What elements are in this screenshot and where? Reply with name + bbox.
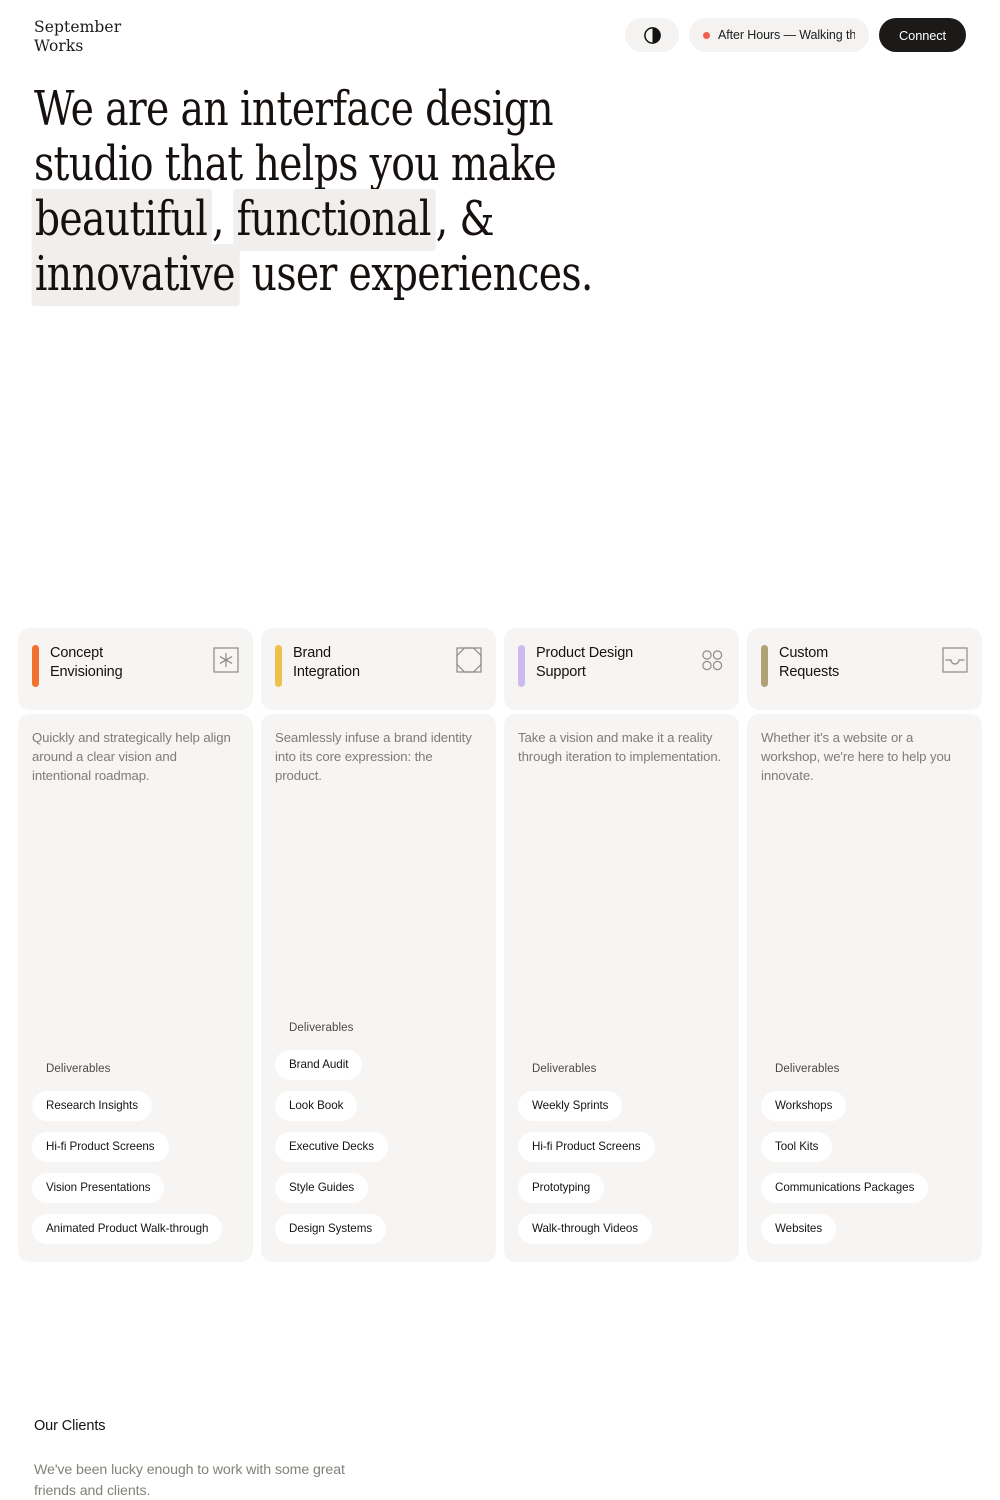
hero-comma-2: , & (436, 191, 494, 247)
card-body: Take a vision and make it a reality thro… (504, 714, 739, 1262)
card-title: Brand Integration (293, 644, 360, 682)
deliverables-label: Deliverables (532, 1063, 725, 1075)
card-body: Seamlessly infuse a brand identity into … (261, 714, 496, 1262)
hero-line-1: We are an interface design (34, 82, 559, 137)
card-description: Seamlessly infuse a brand identity into … (275, 728, 482, 785)
card-header: Brand Integration (261, 628, 496, 710)
deliverables-block: Deliverables Research Insights Hi-fi Pro… (32, 1063, 239, 1244)
deliverables-label: Deliverables (289, 1022, 482, 1034)
hero-line-4: innovative user experiences. (34, 247, 559, 302)
service-card-concept-envisioning[interactable]: Concept Envisioning Quickly and strategi… (18, 628, 253, 1262)
card-body: Whether it's a website or a workshop, we… (747, 714, 982, 1262)
hero-highlight-innovative: innovative (32, 244, 240, 306)
deliverable-chip[interactable]: Style Guides (275, 1173, 368, 1203)
hero-tail: user experiences. (252, 246, 593, 302)
service-card-brand-integration[interactable]: Brand Integration Seamlessly infuse a br… (261, 628, 496, 1262)
now-playing-text: After Hours — Walking the ( (718, 28, 855, 42)
deliverable-chip[interactable]: Walk-through Videos (518, 1214, 652, 1244)
deliverable-chip[interactable]: Look Book (275, 1091, 357, 1121)
card-title: Product Design Support (536, 644, 633, 682)
asterisk-in-square-icon (213, 647, 239, 673)
service-cards: Concept Envisioning Quickly and strategi… (18, 628, 982, 1262)
card-description: Take a vision and make it a reality thro… (518, 728, 725, 766)
deliverable-chip[interactable]: Vision Presentations (32, 1173, 164, 1203)
deliverable-chip[interactable]: Research Insights (32, 1091, 152, 1121)
card-body: Quickly and strategically help align aro… (18, 714, 253, 1262)
card-header-left: Concept Envisioning (32, 644, 123, 687)
connect-button[interactable]: Connect (879, 18, 966, 52)
site-header: September Works After Hours — Walking th… (0, 0, 1000, 70)
card-description: Quickly and strategically help align aro… (32, 728, 239, 785)
deliverables-block: Deliverables Workshops Tool Kits Communi… (761, 1063, 968, 1244)
contrast-half-circle-icon (644, 27, 661, 44)
accent-bar (32, 645, 39, 687)
card-header-left: Custom Requests (761, 644, 839, 687)
hero-comma-1: , (212, 191, 224, 247)
deliverables-list: Brand Audit Look Book Executive Decks St… (275, 1050, 482, 1244)
card-title: Concept Envisioning (50, 644, 123, 682)
now-playing-pill[interactable]: After Hours — Walking the ( (689, 18, 869, 52)
hero-highlight-beautiful: beautiful (32, 189, 213, 251)
deliverables-block: Deliverables Weekly Sprints Hi-fi Produc… (518, 1063, 725, 1244)
status-dot-icon (703, 32, 710, 39)
hero-line-2: studio that helps you make (34, 137, 559, 192)
brand-line-1: September (34, 18, 121, 37)
clients-section: Our Clients We've been lucky enough to w… (34, 1418, 634, 1500)
deliverable-chip[interactable]: Hi-fi Product Screens (518, 1132, 655, 1162)
theme-toggle-button[interactable] (625, 18, 679, 52)
deliverables-block: Deliverables Brand Audit Look Book Execu… (275, 1022, 482, 1244)
accent-bar (761, 645, 768, 687)
deliverable-chip[interactable]: Websites (761, 1214, 836, 1244)
deliverable-chip[interactable]: Weekly Sprints (518, 1091, 622, 1121)
card-header-left: Brand Integration (275, 644, 360, 687)
deliverable-chip[interactable]: Communications Packages (761, 1173, 928, 1203)
deliverable-chip[interactable]: Executive Decks (275, 1132, 388, 1162)
square-with-notch-icon (942, 647, 968, 673)
deliverables-label: Deliverables (775, 1063, 968, 1075)
card-header: Product Design Support (504, 628, 739, 710)
service-card-custom-requests[interactable]: Custom Requests Whether it's a website o… (747, 628, 982, 1262)
clients-subtitle: We've been lucky enough to work with som… (34, 1460, 364, 1500)
deliverables-label: Deliverables (46, 1063, 239, 1075)
card-title: Custom Requests (779, 644, 839, 682)
deliverable-chip[interactable]: Hi-fi Product Screens (32, 1132, 169, 1162)
accent-bar (518, 645, 525, 687)
hero-highlight-functional: functional (233, 189, 435, 251)
clients-title: Our Clients (34, 1418, 634, 1434)
header-actions: After Hours — Walking the ( Connect (625, 18, 966, 52)
brand-line-2: Works (34, 37, 121, 56)
deliverables-list: Weekly Sprints Hi-fi Product Screens Pro… (518, 1091, 725, 1244)
deliverable-chip[interactable]: Animated Product Walk-through (32, 1214, 222, 1244)
accent-bar (275, 645, 282, 687)
card-header-left: Product Design Support (518, 644, 633, 687)
four-circles-grid-icon (699, 647, 725, 673)
deliverables-list: Research Insights Hi-fi Product Screens … (32, 1091, 239, 1244)
octagon-in-square-icon (456, 647, 482, 673)
hero-line-3: beautiful, functional, & (34, 192, 559, 247)
deliverable-chip[interactable]: Prototyping (518, 1173, 604, 1203)
deliverables-list: Workshops Tool Kits Communications Packa… (761, 1091, 968, 1244)
deliverable-chip[interactable]: Brand Audit (275, 1050, 362, 1080)
hero-headline: We are an interface design studio that h… (34, 82, 674, 302)
card-header: Custom Requests (747, 628, 982, 710)
brand-logo[interactable]: September Works (34, 18, 121, 56)
service-card-product-design-support[interactable]: Product Design Support Take a vision and… (504, 628, 739, 1262)
deliverable-chip[interactable]: Workshops (761, 1091, 846, 1121)
deliverable-chip[interactable]: Tool Kits (761, 1132, 832, 1162)
card-description: Whether it's a website or a workshop, we… (761, 728, 968, 785)
deliverable-chip[interactable]: Design Systems (275, 1214, 386, 1244)
card-header: Concept Envisioning (18, 628, 253, 710)
